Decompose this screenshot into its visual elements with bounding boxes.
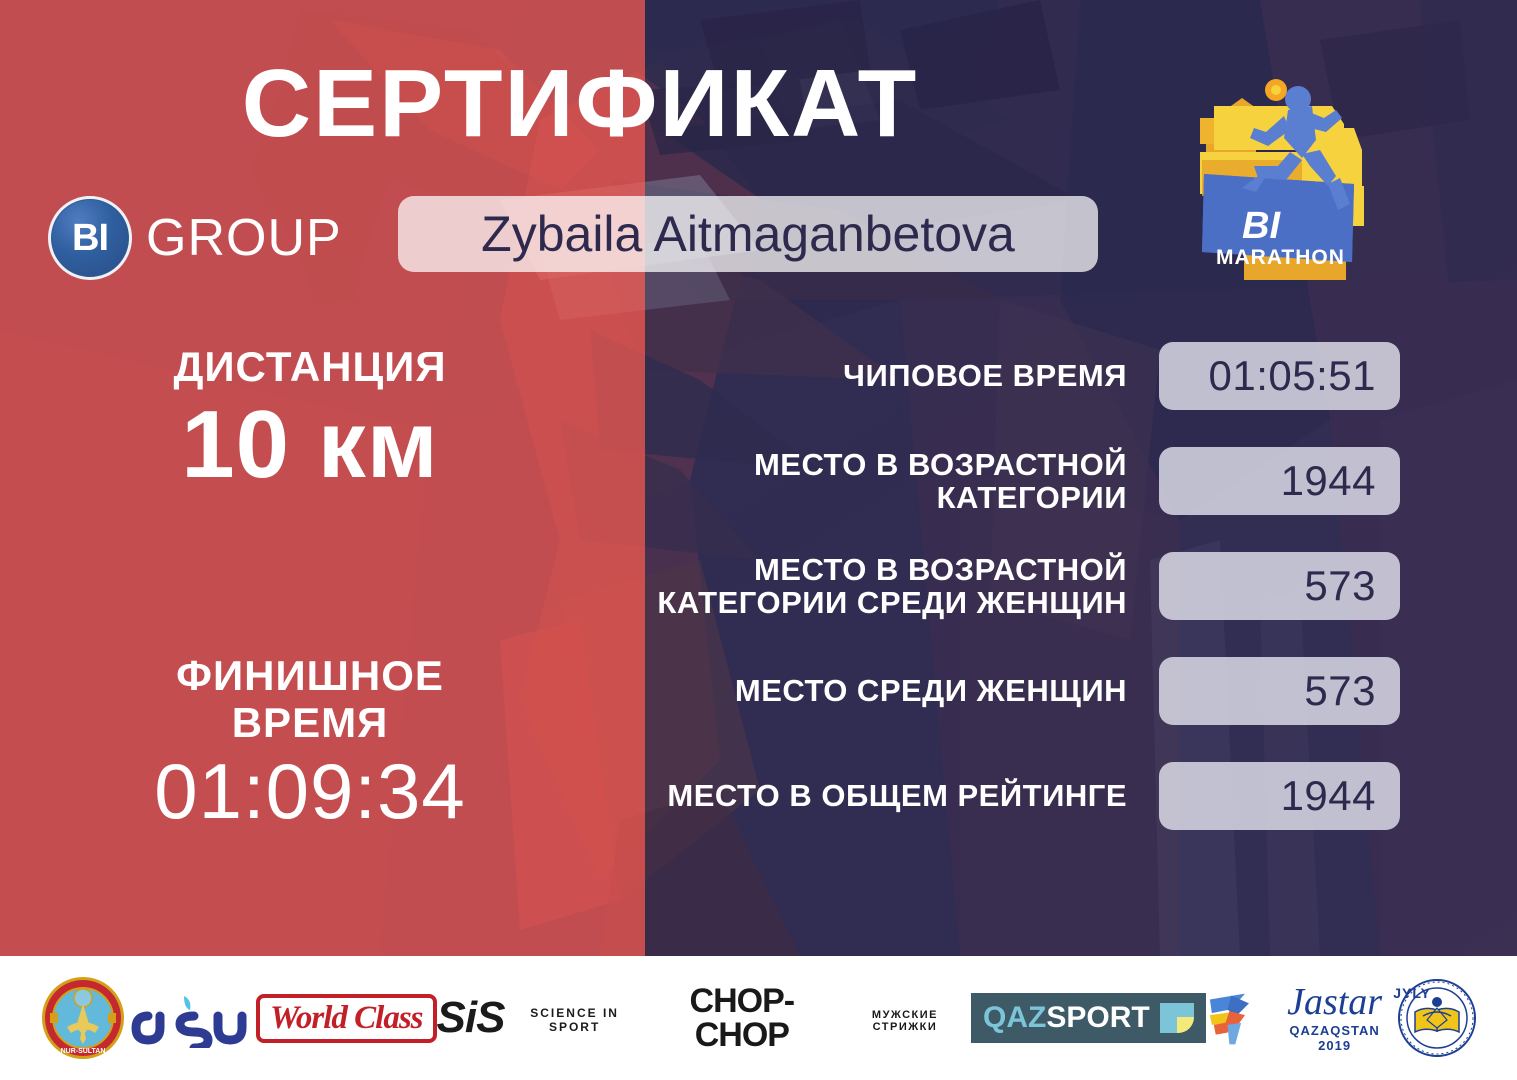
sponsor-asu bbox=[126, 988, 256, 1048]
sponsor-chop-chop: CHOP-CHOP МУЖСКИЕ СТРИЖКИ bbox=[645, 984, 971, 1052]
bi-group-wordmark: GROUP bbox=[146, 208, 342, 268]
marathon-logo-bi-text: BI bbox=[1242, 205, 1281, 247]
participant-name-badge: Zybaila Aitmaganbetova bbox=[398, 196, 1098, 272]
chop-chop-wordmark: CHOP-CHOP bbox=[645, 984, 839, 1052]
chop-chop-tagline: МУЖСКИЕ СТРИЖКИ bbox=[839, 1009, 971, 1033]
distance-block: ДИСТАНЦИЯ 10 км bbox=[60, 345, 560, 493]
asu-logo-icon bbox=[126, 988, 256, 1048]
sponsor-qazsport: QAZ SPORT bbox=[971, 993, 1206, 1043]
stat-label: МЕСТО СРЕДИ ЖЕНЩИН bbox=[600, 674, 1159, 707]
nur-sultan-emblem-icon: NUR-SULTAN bbox=[40, 975, 126, 1061]
sponsor-footer: NUR-SULTAN World Class SiS SCIENCE IN SP… bbox=[0, 956, 1517, 1080]
marathon-logo-marathon-text: MARATHON bbox=[1216, 246, 1345, 269]
stat-value-box: 1944 bbox=[1159, 447, 1400, 515]
bi-badge-icon: BI bbox=[48, 196, 132, 280]
world-class-wordmark: World Class bbox=[256, 994, 437, 1043]
stat-value-box: 1944 bbox=[1159, 762, 1400, 830]
finish-time-value: 01:09:34 bbox=[60, 752, 560, 830]
finish-time-block: ФИНИШНОЕ ВРЕМЯ 01:09:34 bbox=[60, 652, 560, 830]
jastar-wordmark: Jastar bbox=[1272, 983, 1397, 1021]
stat-value: 01:05:51 bbox=[1209, 352, 1377, 400]
stat-value-box: 01:05:51 bbox=[1159, 342, 1400, 410]
sponsor-nur-sultan: NUR-SULTAN bbox=[40, 975, 126, 1061]
certificate-page: СЕРТИФИКАТ BI GROUP Zybaila Aitmaganbeto… bbox=[0, 0, 1517, 1080]
jastar-bird-icon bbox=[1206, 987, 1266, 1049]
sponsor-jastar-jyly: Jastar JYLY QAZAQSTAN 2019 bbox=[1206, 983, 1397, 1053]
stat-row: МЕСТО В ОБЩЕМ РЕЙТИНГЕ 1944 bbox=[600, 762, 1400, 830]
qazsport-text-qaz: QAZ bbox=[983, 1001, 1046, 1035]
stat-value: 1944 bbox=[1281, 457, 1376, 505]
sponsor-sis: SiS SCIENCE IN SPORT bbox=[437, 996, 645, 1040]
qazsport-text-sport: SPORT bbox=[1046, 1001, 1149, 1035]
stat-row: МЕСТО СРЕДИ ЖЕНЩИН 573 bbox=[600, 657, 1400, 725]
sis-wordmark: SiS bbox=[437, 996, 505, 1040]
stat-label: ЧИПОВОЕ ВРЕМЯ bbox=[600, 359, 1159, 392]
bi-group-logo: BI GROUP bbox=[48, 196, 342, 280]
participant-name: Zybaila Aitmaganbetova bbox=[481, 205, 1015, 263]
stat-value-box: 573 bbox=[1159, 552, 1400, 620]
stat-value-box: 573 bbox=[1159, 657, 1400, 725]
nur-sultan-emblem-text: NUR-SULTAN bbox=[61, 1048, 106, 1055]
stat-label: МЕСТО В ВОЗРАСТНОЙ КАТЕГОРИИ bbox=[600, 448, 1159, 515]
stat-value: 1944 bbox=[1281, 772, 1376, 820]
jastar-text-block: Jastar JYLY QAZAQSTAN 2019 bbox=[1272, 983, 1397, 1053]
jastar-subtitle: QAZAQSTAN 2019 bbox=[1272, 1023, 1397, 1053]
bi-marathon-logo: BI MARATHON bbox=[1184, 66, 1380, 294]
stat-row: ЧИПОВОЕ ВРЕМЯ 01:05:51 bbox=[600, 342, 1400, 410]
page-title: СЕРТИФИКАТ bbox=[0, 56, 1160, 152]
qazsport-logo-block: QAZ SPORT bbox=[971, 993, 1206, 1043]
sponsor-world-class: World Class bbox=[256, 994, 437, 1043]
distance-label: ДИСТАНЦИЯ bbox=[60, 345, 560, 389]
stat-row: МЕСТО В ВОЗРАСТНОЙ КАТЕГОРИИ СРЕДИ ЖЕНЩИ… bbox=[600, 552, 1400, 620]
finish-time-label-line2: ВРЕМЯ bbox=[60, 699, 560, 746]
qazsport-mark-icon bbox=[1160, 1003, 1194, 1033]
jastar-jyly-badge: JYLY bbox=[1393, 985, 1431, 1001]
stat-label: МЕСТО В ОБЩЕМ РЕЙТИНГЕ bbox=[600, 779, 1159, 812]
sis-tagline: SCIENCE IN SPORT bbox=[504, 1006, 644, 1034]
stat-row: МЕСТО В ВОЗРАСТНОЙ КАТЕГОРИИ 1944 bbox=[600, 447, 1400, 515]
stat-value: 573 bbox=[1304, 562, 1376, 610]
finish-time-label-line1: ФИНИШНОЕ bbox=[60, 652, 560, 699]
stat-label: МЕСТО В ВОЗРАСТНОЙ КАТЕГОРИИ СРЕДИ ЖЕНЩИ… bbox=[600, 553, 1159, 620]
distance-value: 10 км bbox=[60, 397, 560, 493]
stats-list: ЧИПОВОЕ ВРЕМЯ 01:05:51 МЕСТО В ВОЗРАСТНО… bbox=[600, 342, 1400, 830]
stat-value: 573 bbox=[1304, 667, 1376, 715]
